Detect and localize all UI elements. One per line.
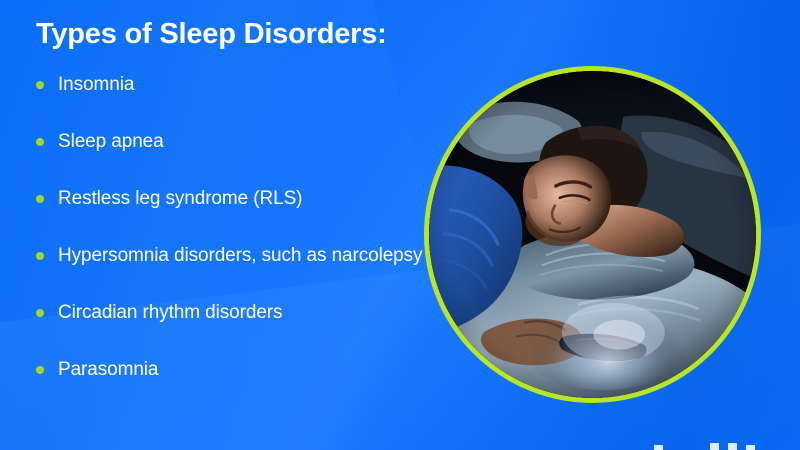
watermark-glyph-3 xyxy=(728,443,737,450)
bullet-dot-icon xyxy=(36,309,44,317)
watermark-glyph-2 xyxy=(710,443,719,450)
list-item: Circadian rhythm disorders xyxy=(36,300,426,327)
watermark-glyph-1 xyxy=(654,445,663,450)
circular-photo-frame xyxy=(424,66,761,403)
list-item-label: Hypersomnia disorders, such as narcoleps… xyxy=(58,243,422,270)
list-item: Insomnia xyxy=(36,72,426,99)
list-item: Hypersomnia disorders, such as narcoleps… xyxy=(36,243,426,270)
sleep-disorders-list: Insomnia Sleep apnea Restless leg syndro… xyxy=(36,72,426,414)
list-item: Sleep apnea xyxy=(36,129,426,156)
page-title: Types of Sleep Disorders: xyxy=(36,19,387,51)
list-item-label: Circadian rhythm disorders xyxy=(58,300,282,327)
bullet-dot-icon xyxy=(36,366,44,374)
list-item: Parasomnia xyxy=(36,357,426,384)
slide: Types of Sleep Disorders: Insomnia Sleep… xyxy=(0,0,800,450)
list-item-label: Restless leg syndrome (RLS) xyxy=(58,186,302,213)
watermark-fragment xyxy=(648,438,766,450)
bullet-dot-icon xyxy=(36,81,44,89)
bullet-dot-icon xyxy=(36,252,44,260)
sleep-photo xyxy=(429,71,756,398)
list-item: Restless leg syndrome (RLS) xyxy=(36,186,426,213)
list-item-label: Sleep apnea xyxy=(58,129,164,156)
list-item-label: Parasomnia xyxy=(58,357,158,384)
list-item-label: Insomnia xyxy=(58,72,134,99)
watermark-glyph-4 xyxy=(746,445,755,450)
bullet-dot-icon xyxy=(36,195,44,203)
sleep-photo-illustration xyxy=(429,71,756,398)
bullet-dot-icon xyxy=(36,138,44,146)
